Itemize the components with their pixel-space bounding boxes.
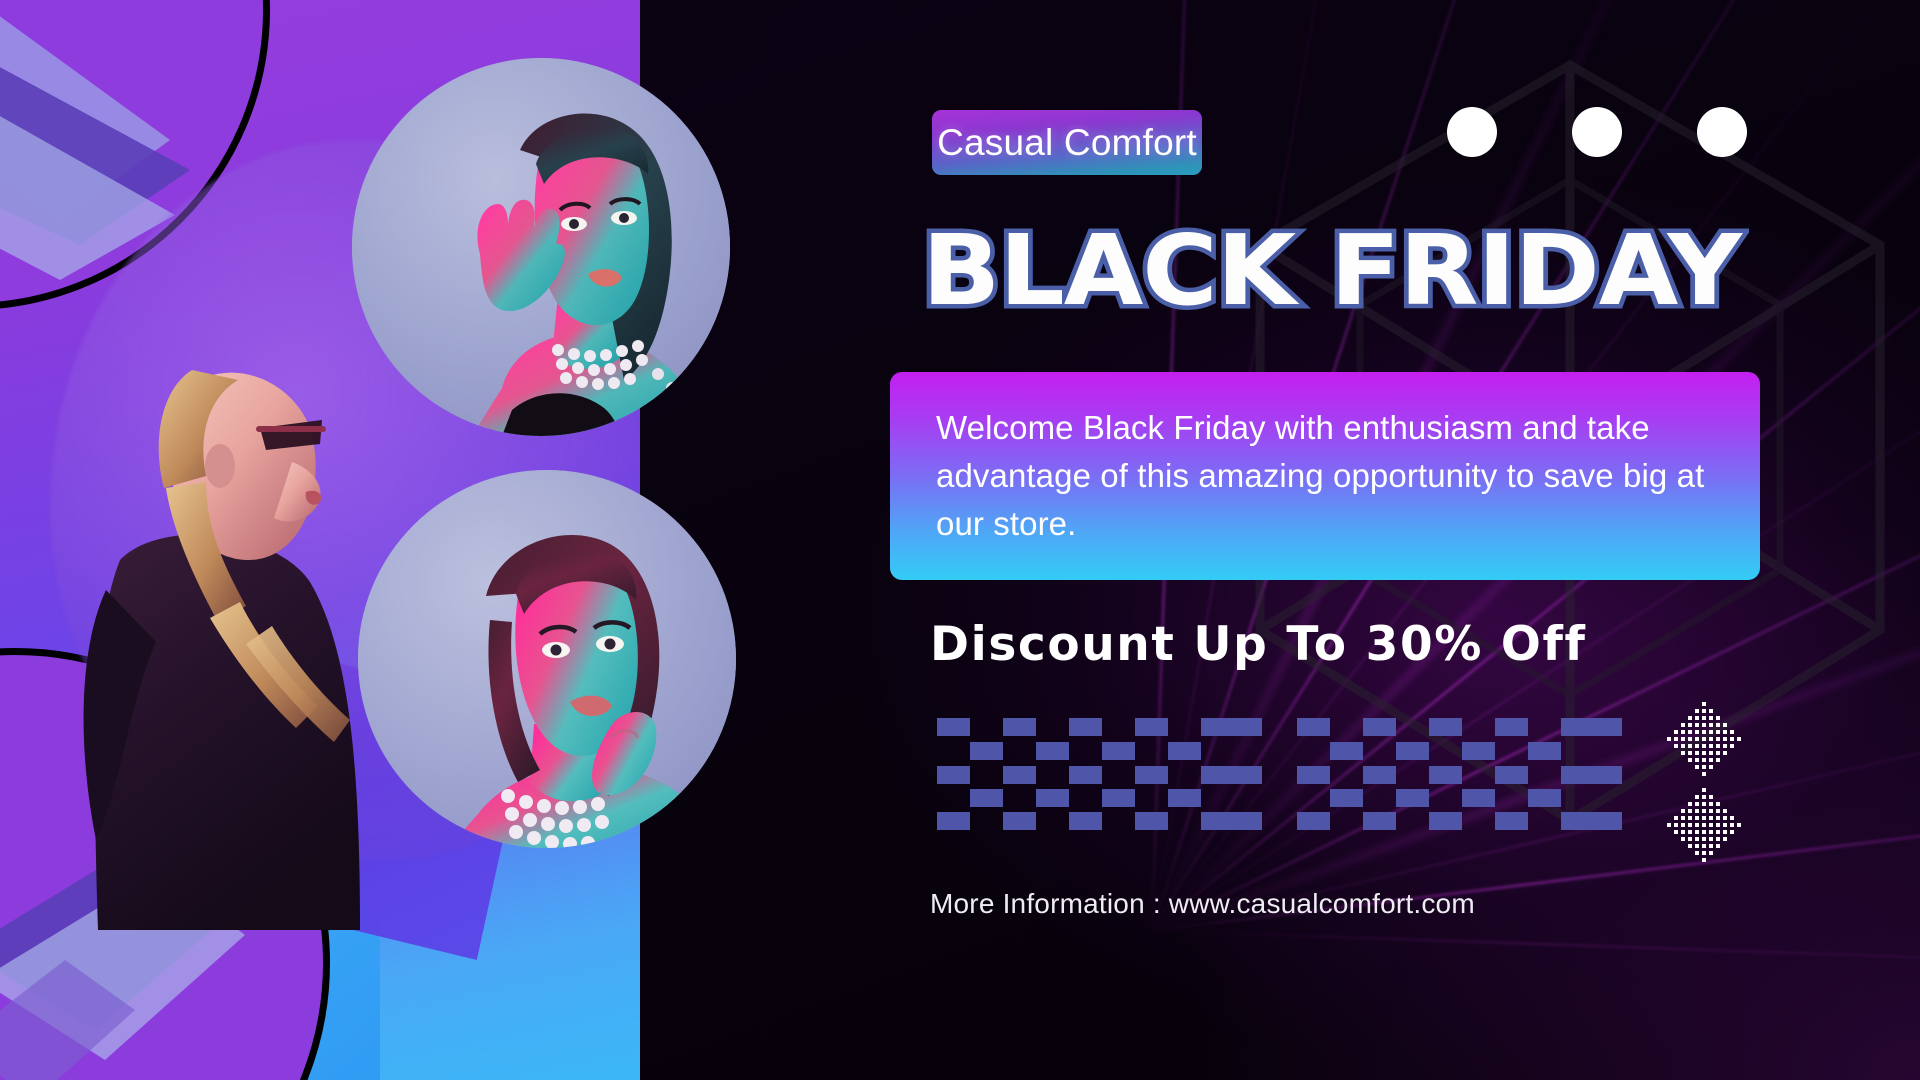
black-friday-banner: Casual Comfort BLACK FRIDAY Welcome Blac…	[0, 0, 1920, 1080]
page-title: BLACK FRIDAY	[922, 222, 1741, 319]
dotted-diamond-decoration	[1667, 700, 1743, 866]
dot-indicator-3	[1697, 107, 1747, 157]
promo-paragraph-box: Welcome Black Friday with enthusiasm and…	[890, 372, 1760, 580]
more-information-text[interactable]: More Information : www.casualcomfort.com	[930, 888, 1475, 920]
dot-indicator-2	[1572, 107, 1622, 157]
hooded-model-figure	[60, 230, 400, 930]
checker-pattern-left	[937, 718, 1262, 830]
model-photo-bottom	[358, 470, 736, 848]
brand-badge[interactable]: Casual Comfort	[932, 110, 1202, 175]
brand-badge-label: Casual Comfort	[937, 124, 1197, 161]
dots-decoration	[1447, 107, 1747, 157]
checker-pattern-right	[1297, 718, 1622, 830]
promo-paragraph-text: Welcome Black Friday with enthusiasm and…	[890, 404, 1760, 548]
discount-headline: Discount Up To 30% Off	[930, 617, 1587, 672]
dot-indicator-1	[1447, 107, 1497, 157]
model-photo-top	[352, 58, 730, 436]
